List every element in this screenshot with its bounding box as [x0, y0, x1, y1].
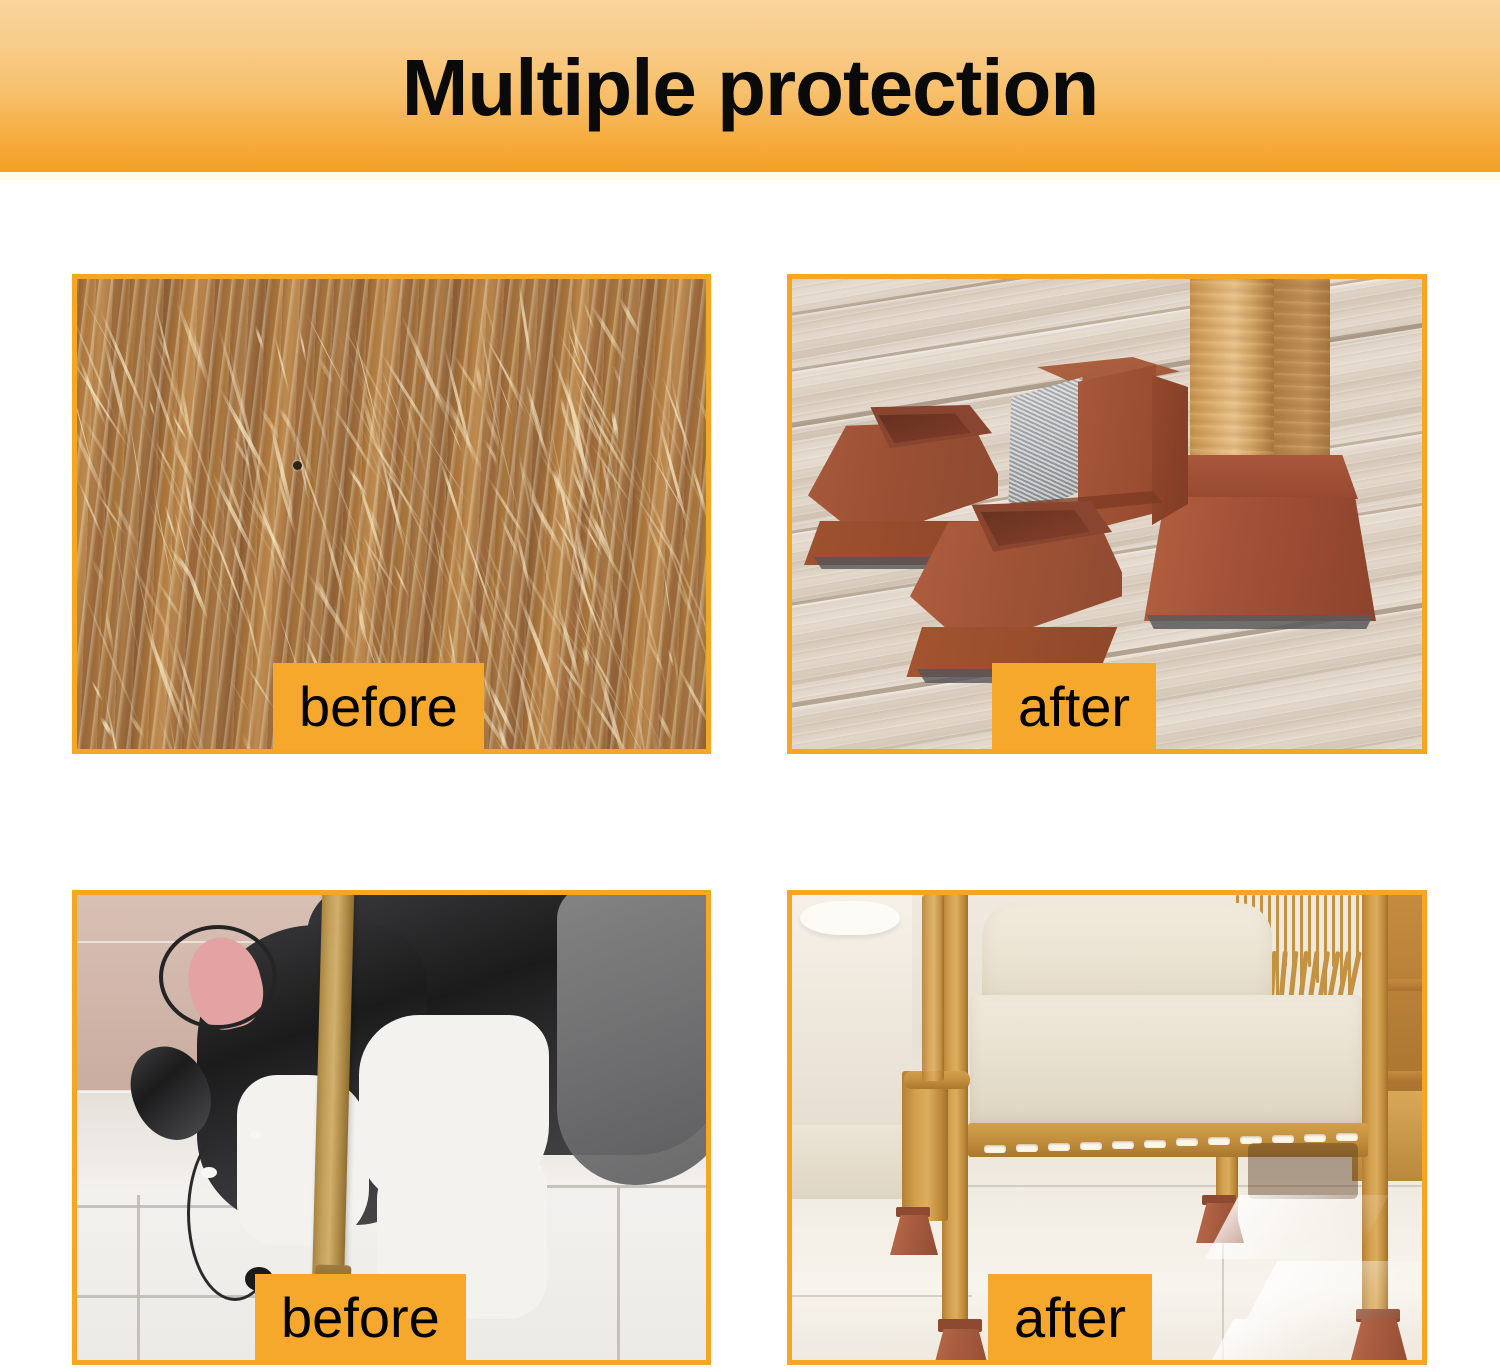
- scratch-line: [442, 391, 487, 477]
- scratch-line: [303, 568, 361, 655]
- floor-light-reflection: [1247, 1261, 1422, 1319]
- bench-leg-back-left: [902, 1071, 948, 1221]
- scratch-line: [90, 558, 107, 589]
- scratch-line: [645, 636, 667, 675]
- scratch-line: [694, 394, 706, 468]
- apron-notch: [1080, 1142, 1102, 1150]
- floor-light-reflection: [1210, 1319, 1353, 1360]
- apron-notch: [1304, 1134, 1326, 1142]
- scratch-line: [655, 412, 691, 535]
- background-wall-base: [792, 1125, 918, 1199]
- tile-grout: [137, 1195, 140, 1360]
- scratch-line: [254, 325, 265, 351]
- bench-seat-cushion: [970, 995, 1362, 1127]
- table-leg-side: [1274, 279, 1330, 469]
- apron-notch: [1144, 1140, 1166, 1148]
- comparison-grid: before: [0, 180, 1500, 1372]
- fitted-cap-felt-pad: [1142, 615, 1378, 629]
- table-leg-front: [1190, 279, 1274, 473]
- apron-notch: [1208, 1137, 1230, 1145]
- panel-before-floor: before: [72, 274, 711, 754]
- bench-back-post: [922, 895, 944, 1081]
- bench-shadow: [1248, 1143, 1358, 1199]
- bench-slat: [1276, 895, 1279, 999]
- apron-notch: [1272, 1135, 1294, 1143]
- tile-grout: [547, 1185, 706, 1188]
- scratch-line: [103, 692, 131, 749]
- header-underline: [0, 172, 1500, 180]
- scratch-line: [130, 423, 145, 505]
- apron-notch: [1048, 1143, 1070, 1151]
- background-basin: [800, 901, 900, 935]
- scratch-line: [583, 301, 596, 332]
- panel-after-legcaps: after: [787, 274, 1427, 754]
- scratch-line: [273, 335, 290, 395]
- caption-before: before: [255, 1274, 466, 1365]
- scratch-line: [391, 563, 409, 598]
- scratch-line: [588, 303, 629, 367]
- scratch-line: [676, 664, 706, 734]
- floor-debris-spot: [293, 461, 302, 470]
- apron-notch: [1112, 1141, 1134, 1149]
- apron-notch: [1336, 1133, 1358, 1141]
- panel-after-bench: after: [787, 890, 1427, 1365]
- scratch-line: [217, 386, 274, 486]
- scratch-line: [275, 471, 298, 538]
- bench-slat: [1308, 895, 1311, 967]
- page-title: Multiple protection: [402, 48, 1099, 128]
- scratch-line: [612, 365, 623, 388]
- scratch-line: [656, 711, 674, 742]
- scratch-line-long: [79, 581, 147, 738]
- apron-notch: [1176, 1138, 1198, 1146]
- scratch-line-long: [319, 305, 493, 619]
- leash-loop: [159, 925, 277, 1029]
- scratch-line: [151, 474, 177, 605]
- scratch-line: [158, 743, 194, 749]
- scratch-line: [618, 296, 644, 339]
- background-shelf-board: [1386, 1071, 1422, 1083]
- scratch-line: [148, 399, 155, 417]
- scratch-line: [683, 532, 690, 567]
- background-shelf-board: [1386, 979, 1422, 991]
- scratch-line: [164, 504, 179, 545]
- tile-grout: [617, 1187, 620, 1360]
- caption-before: before: [273, 663, 484, 754]
- header-banner: Multiple protection: [0, 0, 1500, 172]
- scratch-line: [98, 307, 151, 423]
- scratch-line-long: [347, 356, 421, 518]
- scratch-line: [226, 675, 255, 721]
- apron-notch: [984, 1145, 1006, 1153]
- scratch-line: [175, 299, 210, 385]
- caption-after: after: [988, 1274, 1152, 1365]
- dog-rump: [557, 895, 706, 1185]
- caption-after: after: [992, 663, 1156, 754]
- panel-before-dog: before: [72, 890, 711, 1365]
- scratch-line: [91, 680, 104, 702]
- scratch-line: [378, 348, 440, 444]
- scratch-line: [527, 396, 554, 472]
- fitted-cap-collar: [1162, 455, 1358, 499]
- scratch-line: [240, 731, 256, 749]
- scratch-line: [517, 282, 533, 371]
- fitted-cap-body: [1144, 497, 1376, 621]
- scratch-line: [78, 288, 130, 379]
- apron-notch: [1016, 1144, 1038, 1152]
